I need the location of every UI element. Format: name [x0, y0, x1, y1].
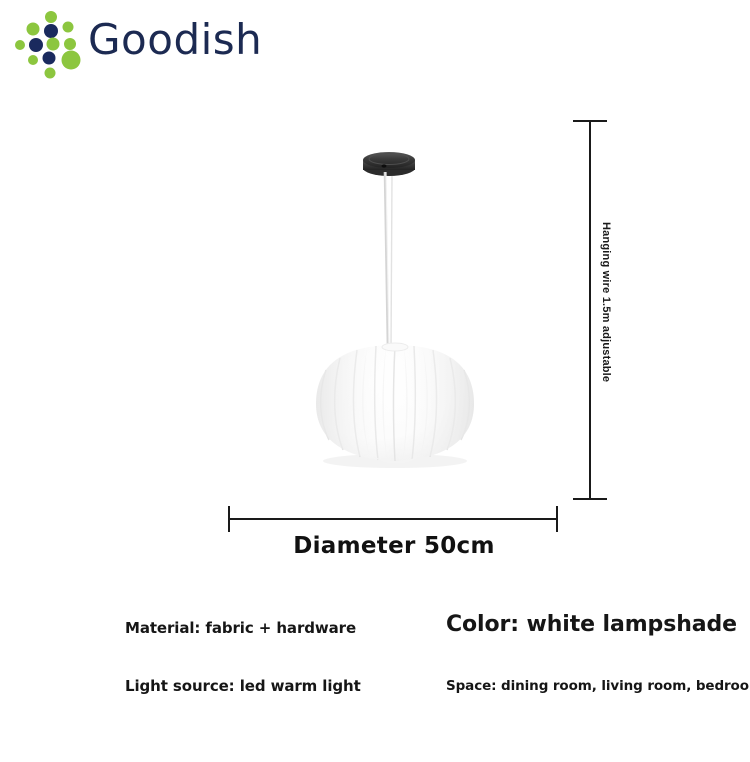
product-spec-sheet: Goodish [0, 0, 750, 762]
horizontal-dimension-line [228, 518, 558, 520]
vertical-dimension-cap-top [573, 120, 607, 122]
horizontal-dimension-cap-left [228, 506, 230, 532]
spec-light-source: Light source: led warm light [125, 677, 361, 695]
spec-material: Material: fabric + hardware [125, 619, 356, 637]
ceiling-canopy-icon [363, 152, 415, 176]
brand-wordmark: Goodish [88, 12, 262, 68]
vertical-dimension-label: Hanging wire 1.5m adjustable [599, 222, 612, 342]
dot-grid-logo-icon [15, 9, 87, 79]
pendant-lamp-svg [0, 0, 750, 762]
spec-space: Space: dining room, living room, bedroom [446, 678, 750, 694]
vertical-dimension-line [589, 120, 591, 500]
horizontal-dimension-cap-right [556, 506, 558, 532]
brand-header: Goodish [10, 6, 280, 76]
hanging-cord [385, 172, 392, 350]
horizontal-dimension-label: Diameter 50cm [228, 533, 560, 559]
vertical-dimension-cap-bottom [573, 498, 607, 500]
spec-color: Color: white lampshade [446, 612, 737, 637]
product-illustration [0, 0, 750, 762]
logo-dots-svg [15, 9, 87, 79]
lamp-shade [316, 343, 474, 468]
